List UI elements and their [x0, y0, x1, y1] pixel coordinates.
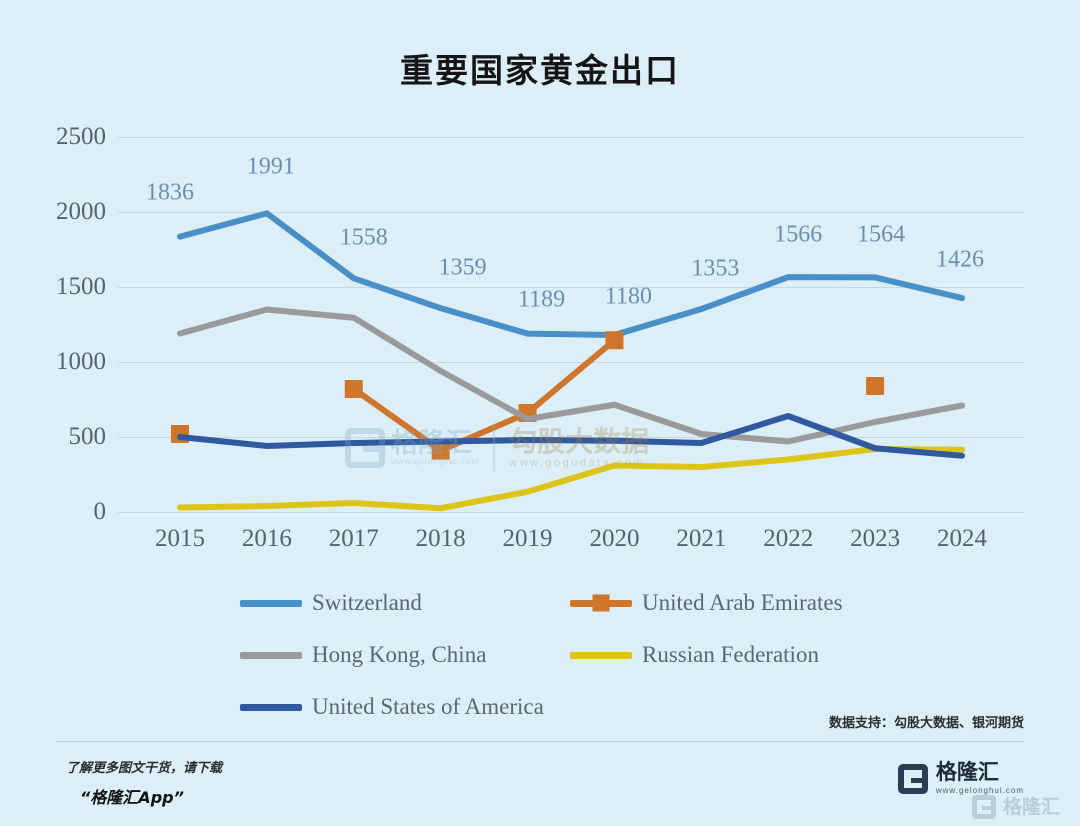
series-marker — [605, 331, 623, 349]
data-point-label: 1359 — [439, 255, 487, 282]
series-marker — [866, 377, 884, 395]
promo-block: 了解更多图文干货，请下载 “格隆汇App” — [66, 757, 222, 808]
chart-page: 重要国家黄金出口 05001000150020002500 2015201620… — [0, 0, 1080, 826]
legend-swatch — [240, 652, 302, 659]
series-line — [180, 449, 962, 508]
footer-divider — [56, 741, 1024, 742]
gelonghui-g-icon — [898, 764, 928, 794]
legend-item[interactable]: Switzerland — [240, 590, 422, 616]
data-point-label: 1180 — [605, 284, 652, 311]
data-point-label: 1566 — [774, 222, 822, 249]
legend-label: Russian Federation — [642, 642, 819, 668]
y-axis-tick-label: 1500 — [10, 273, 106, 301]
legend-label: Hong Kong, China — [312, 642, 486, 668]
series-marker — [345, 380, 363, 398]
footer-brand-ghost: 格隆汇 — [972, 795, 1060, 819]
series-line — [180, 213, 962, 335]
footer-brand-logo: 格隆汇 www.gelonghui.com — [898, 762, 1024, 795]
legend-swatch — [240, 600, 302, 607]
gridline — [118, 512, 1024, 513]
data-point-label: 1558 — [340, 225, 388, 252]
legend-label: United States of America — [312, 694, 544, 720]
data-point-label: 1991 — [247, 154, 295, 181]
data-point-label: 1426 — [936, 247, 984, 274]
series-lines — [118, 137, 1024, 512]
legend-item[interactable]: United Arab Emirates — [570, 590, 843, 616]
source-note: 数据支持：勾股大数据、银河期货 — [829, 712, 1024, 731]
y-axis-tick-label: 2500 — [10, 123, 106, 151]
footer-brand-name: 格隆汇 — [936, 762, 1024, 783]
legend-item[interactable]: Russian Federation — [570, 642, 819, 668]
footer-brand-url: www.gelonghui.com — [936, 786, 1024, 795]
footer-brand-ghost-text: 格隆汇 — [1003, 798, 1060, 817]
y-axis-tick-label: 2000 — [10, 198, 106, 226]
data-point-label: 1189 — [518, 286, 565, 313]
data-point-label: 1836 — [146, 179, 194, 206]
legend-swatch — [240, 704, 302, 711]
legend-label: Switzerland — [312, 590, 422, 616]
chart-plot-area: 05001000150020002500 2015201620172018201… — [118, 137, 1024, 512]
legend-swatch — [570, 652, 632, 659]
legend-item[interactable]: United States of America — [240, 694, 544, 720]
legend-marker-square — [593, 595, 610, 612]
y-axis-tick-label: 0 — [10, 498, 106, 526]
gelonghui-g-icon — [972, 795, 996, 819]
data-point-label: 1564 — [857, 222, 905, 249]
x-axis-tick-label: 2024 — [907, 525, 1017, 553]
legend-label: United Arab Emirates — [642, 590, 843, 616]
page-title: 重要国家黄金出口 — [0, 44, 1080, 92]
promo-line-2: “格隆汇App” — [80, 784, 222, 808]
promo-line-1: 了解更多图文干货，请下载 — [66, 757, 222, 776]
y-axis-tick-label: 500 — [10, 423, 106, 451]
legend-swatch — [570, 600, 632, 607]
legend-item[interactable]: Hong Kong, China — [240, 642, 486, 668]
data-point-label: 1353 — [691, 256, 739, 283]
y-axis-tick-label: 1000 — [10, 348, 106, 376]
